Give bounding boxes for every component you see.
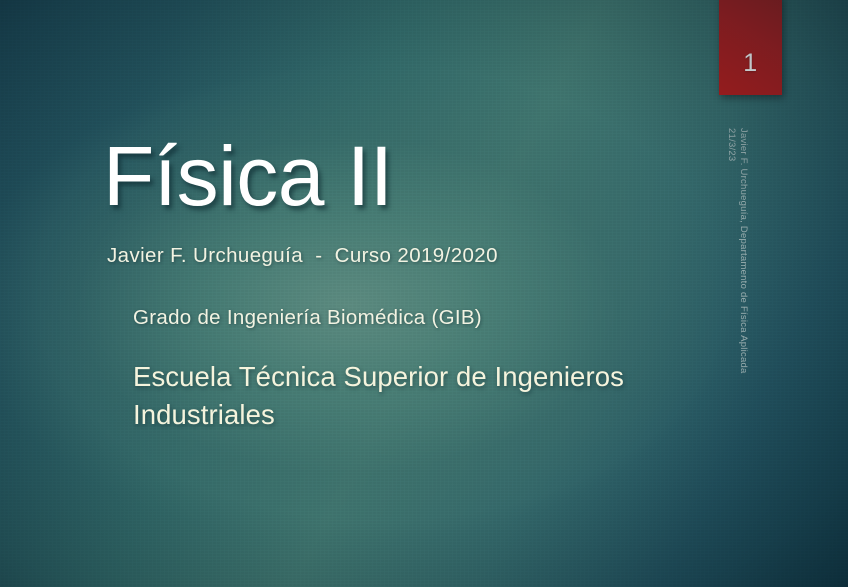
- page-title: Física II: [103, 134, 393, 218]
- vertical-footer-strip: 21/3/23 Javier F. Urchueguía, Departamen…: [726, 128, 766, 458]
- school-name-line-1: Escuela Técnica Superior de Ingenieros: [133, 358, 733, 396]
- slide-number-badge: 1: [719, 0, 782, 95]
- author-and-course-subtitle: Javier F. Urchueguía - Curso 2019/2020: [107, 244, 498, 269]
- footer-date: 21/3/23: [727, 128, 737, 161]
- footer-author-department: Javier F. Urchueguía, Departamento de Fí…: [739, 128, 749, 374]
- school-name-line-2: Industriales: [133, 396, 733, 434]
- presentation-slide: Física II Javier F. Urchueguía - Curso 2…: [0, 0, 848, 587]
- degree-program-label: Grado de Ingeniería Biomédica (GIB): [133, 306, 482, 331]
- slide-number-text: 1: [719, 51, 782, 76]
- school-name-block: Escuela Técnica Superior de Ingenieros I…: [133, 358, 733, 434]
